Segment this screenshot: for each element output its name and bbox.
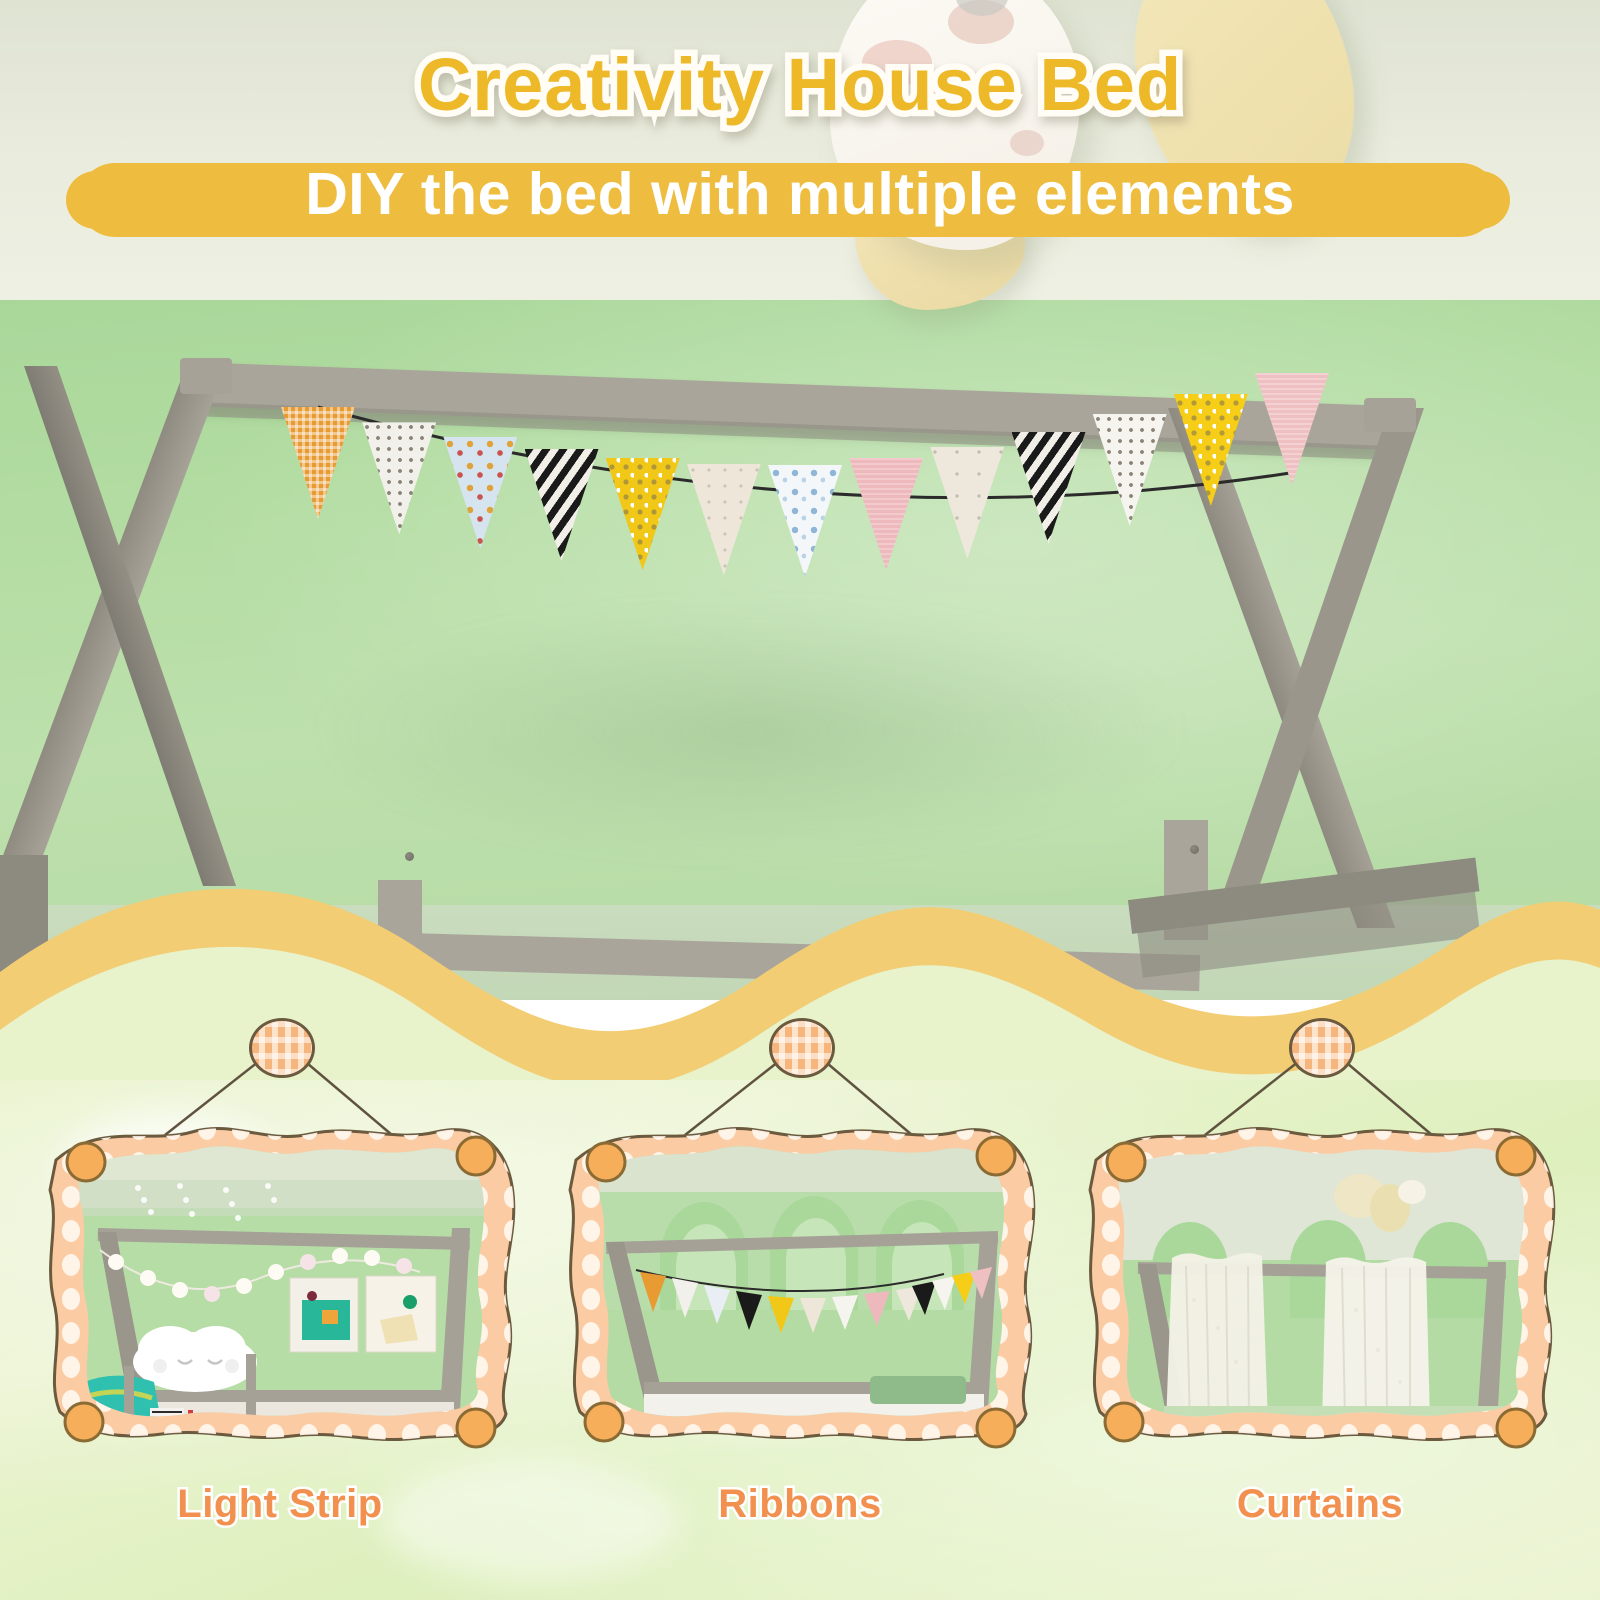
bunting-flag [606,458,680,570]
card-ribbons[interactable] [540,1010,1060,1440]
bunting-flag [1012,432,1086,544]
bed-roof-left-apex [180,358,232,394]
bunting-flag [1093,414,1167,526]
wavy-photo-frame [1060,1010,1580,1450]
bunting-flag [525,449,599,561]
card-curtains[interactable] [1060,1010,1580,1440]
card-light-strip[interactable] [20,1010,540,1440]
bunting-flag [1174,394,1248,506]
page-title: Creativity House Bed [0,42,1600,127]
bunting-flag [362,422,436,534]
bunting-flag [849,458,923,570]
product-infographic: Light Strip [0,0,1600,1600]
bunting-flag [687,464,761,576]
screw-left-post [405,852,414,861]
wall-shadow [300,600,1200,860]
wavy-photo-frame [540,1010,1060,1450]
hero-photo [0,0,1600,1000]
bunting-flag [281,407,355,519]
wavy-photo-frame [20,1010,540,1450]
screw-right-post [1190,845,1199,854]
bunting-flag [1255,373,1329,485]
bunting-flag [768,465,842,577]
bunting-flag [930,447,1004,559]
page-subtitle: DIY the bed with multiple elements [0,160,1600,228]
bunting-flag [443,437,517,549]
